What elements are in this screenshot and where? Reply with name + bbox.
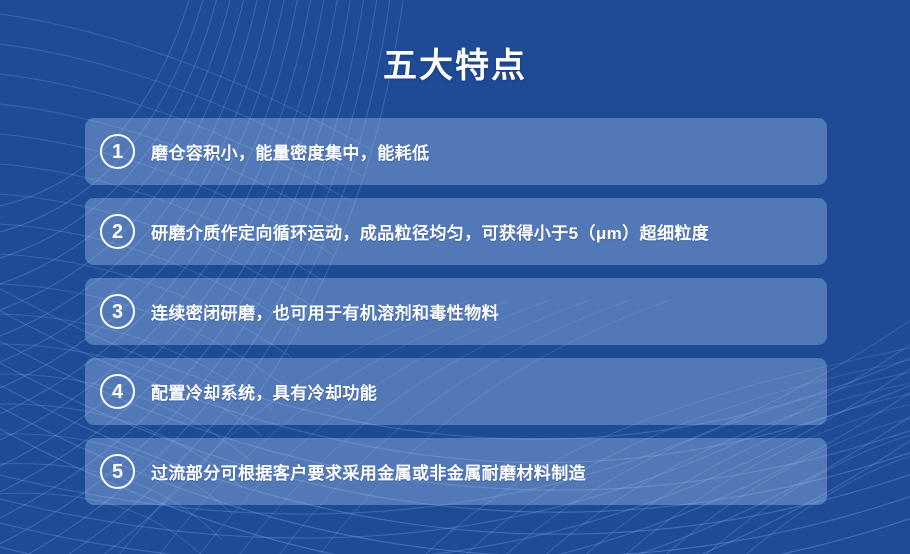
feature-card-5[interactable]: 5 过流部分可根据客户要求采用金属或非金属耐磨材料制造 xyxy=(85,438,827,505)
feature-card-2[interactable]: 2 研磨介质作定向循环运动，成品粒径均匀，可获得小于5（μm）超细粒度 xyxy=(85,198,827,265)
feature-text-2: 研磨介质作定向循环运动，成品粒径均匀，可获得小于5（μm）超细粒度 xyxy=(151,219,709,244)
feature-number-badge-5: 5 xyxy=(100,454,135,489)
feature-number-badge-4: 4 xyxy=(100,374,135,409)
page-title: 五大特点 xyxy=(0,44,910,88)
feature-text-1: 磨仓容积小，能量密度集中，能耗低 xyxy=(151,139,429,164)
feature-text-4: 配置冷却系统，具有冷却功能 xyxy=(151,379,377,404)
feature-number-badge-3: 3 xyxy=(100,294,135,329)
feature-text-5: 过流部分可根据客户要求采用金属或非金属耐磨材料制造 xyxy=(151,459,586,484)
feature-card-1[interactable]: 1 磨仓容积小，能量密度集中，能耗低 xyxy=(85,118,827,185)
feature-number-badge-2: 2 xyxy=(100,214,135,249)
feature-text-3: 连续密闭研磨，也可用于有机溶剂和毒性物料 xyxy=(151,299,499,324)
feature-number-badge-1: 1 xyxy=(100,134,135,169)
feature-list: 1 磨仓容积小，能量密度集中，能耗低 2 研磨介质作定向循环运动，成品粒径均匀，… xyxy=(85,118,827,505)
feature-card-3[interactable]: 3 连续密闭研磨，也可用于有机溶剂和毒性物料 xyxy=(85,278,827,345)
feature-poster: 五大特点 1 磨仓容积小，能量密度集中，能耗低 2 研磨介质作定向循环运动，成品… xyxy=(0,0,910,554)
feature-card-4[interactable]: 4 配置冷却系统，具有冷却功能 xyxy=(85,358,827,425)
